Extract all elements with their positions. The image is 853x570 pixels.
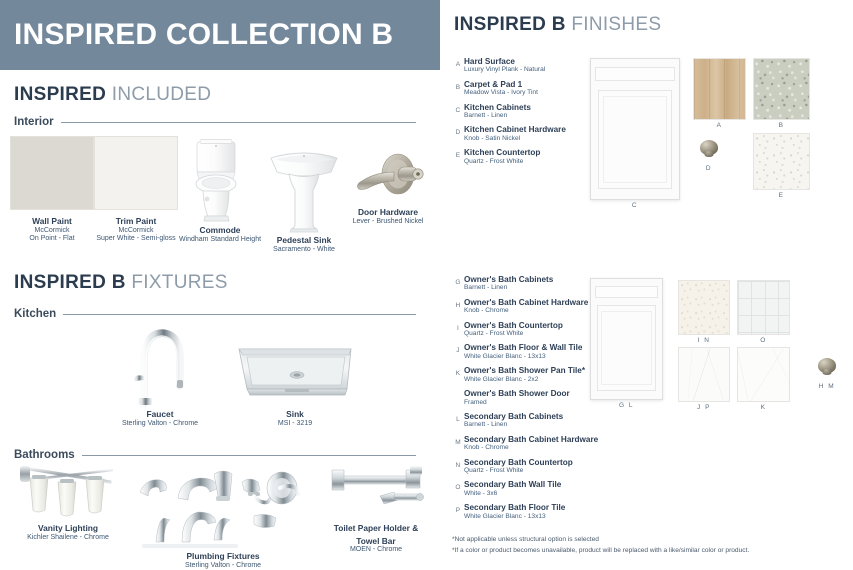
legend-letter: E bbox=[452, 148, 464, 159]
legend-name: Owner's Bath Countertop bbox=[464, 321, 563, 330]
legend-sub: Framed bbox=[464, 399, 570, 407]
legend-name: Owner's Bath Floor & Wall Tile bbox=[464, 343, 582, 352]
product-door-hardware: Door Hardware Lever - Brushed Nickel bbox=[346, 136, 430, 226]
legend-name: Carpet & Pad 1 bbox=[464, 80, 538, 89]
footnotes: *Not applicable unless structural option… bbox=[452, 534, 847, 557]
swatch-label: H M bbox=[819, 383, 835, 390]
cabinet-door-icon bbox=[590, 278, 663, 400]
legend-letter: J bbox=[452, 343, 464, 354]
product-plumbing-fixtures: Plumbing Fixtures Sterling Valton - Chro… bbox=[128, 462, 318, 570]
product-sub1: Windham Standard Height bbox=[179, 236, 261, 244]
product-wall-paint: Wall Paint McCormick On Point - Flat bbox=[10, 136, 94, 243]
legend-sub: Luxury Vinyl Plank - Natural bbox=[464, 66, 545, 74]
legend-sub: Knob - Chrome bbox=[464, 444, 598, 452]
legend-letter: H bbox=[452, 298, 464, 309]
legend-sub: White - 3x6 bbox=[464, 490, 561, 498]
legend-letter: L bbox=[452, 412, 464, 423]
finishes-heading-word2: FINISHES bbox=[571, 14, 661, 35]
swatch-floor-tile: J P bbox=[678, 347, 730, 411]
fixtures-heading-word2: FIXTURES bbox=[131, 272, 227, 293]
product-trim-paint: Trim Paint McCormick Super White - Semi-… bbox=[94, 136, 178, 243]
page-title: INSPIRED COLLECTION B bbox=[0, 20, 393, 50]
product-vanity-lighting: Vanity Lighting Kichler Shailene - Chrom… bbox=[8, 462, 128, 542]
cabinet-drawer-front bbox=[595, 67, 674, 81]
pedestal-sink-icon bbox=[265, 146, 343, 234]
fixtures-heading-word1: INSPIRED B bbox=[14, 272, 126, 293]
swatch-label: O bbox=[760, 337, 767, 344]
swatch-bath-cabinet: G L bbox=[590, 278, 663, 409]
swatch-label: K bbox=[761, 404, 767, 411]
kitchen-subsection-label: Kitchen bbox=[14, 308, 56, 320]
swatch-label: I N bbox=[698, 337, 711, 344]
swatch-label: G L bbox=[619, 402, 634, 409]
carpet-swatch-icon bbox=[753, 58, 810, 120]
included-heading-word2: INCLUDED bbox=[112, 84, 212, 105]
legend-name: Secondary Bath Wall Tile bbox=[464, 480, 561, 489]
legend-letter: D bbox=[452, 125, 464, 136]
legend-letter: I bbox=[452, 321, 464, 332]
legend-name: Kitchen Countertop bbox=[464, 148, 540, 157]
title-bar: INSPIRED COLLECTION B bbox=[0, 0, 440, 70]
interior-subsection-label: Interior bbox=[14, 116, 54, 128]
swatch-label: J P bbox=[697, 404, 711, 411]
bathrooms-subsection: Bathrooms bbox=[14, 449, 416, 461]
cabinet-knob-icon bbox=[818, 358, 836, 373]
legend-letter: G bbox=[452, 275, 464, 286]
product-name: Door Hardware bbox=[358, 208, 418, 218]
product-name-line2: Towel Bar bbox=[356, 537, 395, 547]
included-heading: INSPIRED INCLUDED bbox=[14, 84, 211, 106]
legend-name: Owner's Bath Shower Pan Tile* bbox=[464, 366, 585, 375]
interior-subsection: Interior bbox=[14, 116, 416, 128]
product-sub1: Sacramento - White bbox=[273, 246, 335, 254]
door-lever-icon bbox=[348, 148, 428, 206]
vanity-light-icon bbox=[14, 462, 122, 520]
right-column: INSPIRED B FINISHES A Hard Surface Luxur… bbox=[440, 0, 853, 569]
legend-item: P Secondary Bath Floor Tile White Glacie… bbox=[452, 503, 642, 520]
paint-swatch-icon bbox=[10, 136, 94, 210]
product-name: Commode bbox=[200, 226, 241, 236]
legend-sub: Quartz - Frost White bbox=[464, 330, 563, 338]
product-name: Plumbing Fixtures bbox=[186, 552, 259, 562]
legend-sub: Barnett - Linen bbox=[464, 112, 531, 120]
product-faucet: Faucet Sterling Valton - Chrome bbox=[100, 318, 220, 428]
legend-sub: Barnett - Linen bbox=[464, 284, 553, 292]
swatch-carpet: B bbox=[753, 58, 810, 129]
product-name: Wall Paint bbox=[32, 217, 72, 227]
included-heading-word1: INSPIRED bbox=[14, 84, 106, 105]
quartz-swatch-icon bbox=[753, 133, 810, 190]
cabinet-panel bbox=[598, 90, 672, 189]
subway-tile-swatch-icon bbox=[737, 280, 790, 335]
legend-sub: Knob - Chrome bbox=[464, 307, 588, 315]
swatch-kitchen-cabinet: C bbox=[590, 58, 680, 209]
swatch-hard-surface: A bbox=[693, 58, 746, 129]
legend-item: L Secondary Bath Cabinets Barnett - Line… bbox=[452, 412, 642, 429]
swatch-kitchen-countertop: E bbox=[753, 133, 810, 199]
legend-name: Owner's Bath Cabinets bbox=[464, 275, 553, 284]
legend-letter: A bbox=[452, 57, 464, 68]
product-sink: Sink MSI - 3219 bbox=[220, 339, 370, 428]
legend-sub: Quartz - Frost White bbox=[464, 158, 540, 166]
collection-sheet: INSPIRED COLLECTION B INSPIRED INCLUDED … bbox=[0, 0, 853, 569]
legend-name: Owner's Bath Cabinet Hardware bbox=[464, 298, 588, 307]
legend-name: Kitchen Cabinets bbox=[464, 103, 531, 112]
product-name: Faucet bbox=[147, 410, 174, 420]
footnote-1: *Not applicable unless structural option… bbox=[452, 534, 847, 546]
swatch-label: A bbox=[717, 122, 723, 129]
legend-letter: O bbox=[452, 480, 464, 491]
legend-name: Owner's Bath Shower Door bbox=[464, 389, 570, 398]
legend-letter: K bbox=[452, 366, 464, 377]
product-name: Trim Paint bbox=[116, 217, 157, 227]
legend-letter: N bbox=[452, 458, 464, 469]
legend-name: Secondary Bath Cabinets bbox=[464, 412, 563, 421]
swatch-label: B bbox=[779, 122, 785, 129]
legend-sub: White Glacier Blanc - 2x2 bbox=[464, 376, 585, 384]
footnote-2: *If a color or product becomes unavailab… bbox=[452, 545, 847, 557]
legend-sub: White Glacier Blanc - 13x13 bbox=[464, 513, 565, 521]
product-name: Sink bbox=[286, 410, 304, 420]
product-sub1: McCormick bbox=[119, 227, 154, 235]
bathrooms-subsection-label: Bathrooms bbox=[14, 449, 75, 461]
legend-sub: Meadow Vista - Ivory Tint bbox=[464, 89, 538, 97]
legend-name: Hard Surface bbox=[464, 57, 545, 66]
legend-sub: Knob - Satin Nickel bbox=[464, 135, 566, 143]
swatch-wall-tile: O bbox=[737, 280, 790, 344]
product-pedestal-sink: Pedestal Sink Sacramento - White bbox=[262, 136, 346, 254]
cabinet-drawer-front bbox=[595, 286, 659, 298]
product-sub1: Lever - Brushed Nickel bbox=[353, 218, 424, 226]
towel-bar-icon bbox=[324, 462, 428, 520]
product-sub1: MOEN - Chrome bbox=[350, 546, 402, 554]
legend-letter: P bbox=[452, 503, 464, 514]
legend-item: O Secondary Bath Wall Tile White - 3x6 bbox=[452, 480, 642, 497]
product-sub1: MSI - 3219 bbox=[278, 420, 312, 428]
divider-line bbox=[82, 455, 416, 456]
bathrooms-fixtures-row: Vanity Lighting Kichler Shailene - Chrom… bbox=[8, 462, 436, 570]
swatch-bath-countertop: I N bbox=[678, 280, 730, 344]
marble-tile-swatch-icon bbox=[678, 347, 730, 402]
product-name: Toilet Paper Holder & bbox=[334, 524, 419, 534]
legend-sub: Quartz - Frost White bbox=[464, 467, 573, 475]
product-commode: Commode Windham Standard Height bbox=[178, 136, 262, 244]
product-sub1: Kichler Shailene - Chrome bbox=[27, 534, 109, 542]
interior-product-row: Wall Paint McCormick On Point - Flat Tri… bbox=[10, 136, 430, 254]
swatch-kitchen-knob: D bbox=[700, 140, 718, 172]
product-sub1: Sterling Valton - Chrome bbox=[122, 420, 198, 428]
legend-letter: M bbox=[452, 435, 464, 446]
legend-name: Secondary Bath Countertop bbox=[464, 458, 573, 467]
fixtures-heading: INSPIRED B FIXTURES bbox=[14, 272, 228, 294]
divider-line bbox=[61, 122, 416, 123]
product-name: Vanity Lighting bbox=[38, 524, 98, 534]
swatch-label: D bbox=[706, 165, 712, 172]
cabinet-knob-icon bbox=[700, 140, 718, 155]
legend-letter: C bbox=[452, 103, 464, 114]
legend-name: Kitchen Cabinet Hardware bbox=[464, 125, 566, 134]
product-sub2: On Point - Flat bbox=[29, 235, 74, 243]
swatch-label: E bbox=[779, 192, 785, 199]
finishes-heading-word1: INSPIRED B bbox=[454, 14, 566, 35]
swatch-shower-pan-tile: K bbox=[737, 347, 790, 411]
swatch-bath-knob: H M bbox=[818, 358, 836, 390]
cabinet-door-icon bbox=[590, 58, 680, 200]
legend-name: Secondary Bath Floor Tile bbox=[464, 503, 565, 512]
legend-sub: Barnett - Linen bbox=[464, 421, 563, 429]
plumbing-fixtures-icon bbox=[130, 462, 316, 550]
product-sub1: McCormick bbox=[35, 227, 70, 235]
left-column: INSPIRED COLLECTION B INSPIRED INCLUDED … bbox=[0, 0, 440, 569]
product-name: Pedestal Sink bbox=[277, 236, 331, 246]
legend-name: Secondary Bath Cabinet Hardware bbox=[464, 435, 598, 444]
paint-swatch-icon bbox=[94, 136, 178, 210]
marble-tile-swatch-icon bbox=[737, 347, 790, 402]
cabinet-panel bbox=[597, 305, 657, 390]
cream-tile-swatch-icon bbox=[678, 280, 730, 335]
divider-line bbox=[63, 314, 416, 315]
product-sub2: Super White - Semi-gloss bbox=[96, 235, 175, 243]
legend-sub: White Glacier Blanc - 13x13 bbox=[464, 353, 582, 361]
wood-plank-swatch-icon bbox=[693, 58, 746, 120]
product-towel-bar: Toilet Paper Holder & Towel Bar MOEN - C… bbox=[318, 462, 434, 555]
legend-letter bbox=[452, 389, 464, 393]
kitchen-faucet-icon bbox=[112, 318, 208, 408]
finishes-heading: INSPIRED B FINISHES bbox=[454, 14, 661, 36]
legend-item: N Secondary Bath Countertop Quartz - Fro… bbox=[452, 458, 642, 475]
kitchen-fixtures-row: Faucet Sterling Valton - Chrome bbox=[100, 318, 430, 428]
swatch-label: C bbox=[632, 202, 638, 209]
toilet-icon bbox=[183, 136, 257, 224]
legend-letter: B bbox=[452, 80, 464, 91]
legend-item: M Secondary Bath Cabinet Hardware Knob -… bbox=[452, 435, 642, 452]
kitchen-sink-icon bbox=[235, 339, 355, 401]
